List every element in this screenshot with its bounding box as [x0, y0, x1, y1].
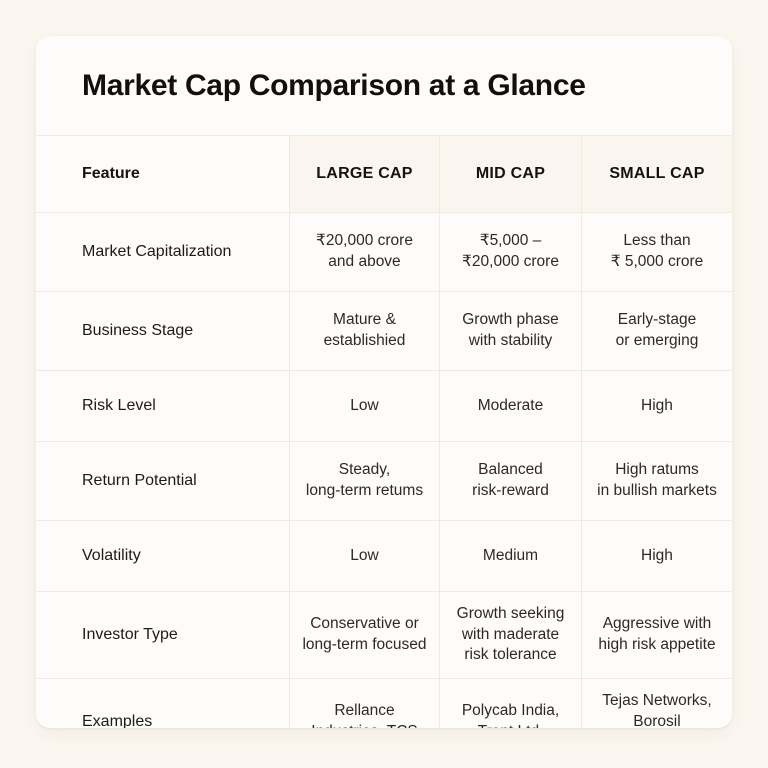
- cell-text-feature: Volatility: [82, 545, 141, 566]
- row-large-cap-cell: Low: [290, 521, 440, 591]
- cell-text-small: High ratums in bullish markets: [597, 460, 717, 501]
- table-header-row: Feature LARGE CAP MID CAP SMALL CAP: [36, 136, 732, 213]
- row-small-cap-cell: Less than ₹ 5,000 crore: [582, 213, 732, 291]
- row-large-cap-cell: Low: [290, 371, 440, 441]
- row-large-cap-cell: Steady, long-term retums: [290, 442, 440, 520]
- cell-text-mid: Polycab India, Trent Ltd.: [462, 701, 559, 728]
- cell-text-large: Low: [350, 396, 378, 417]
- row-mid-cap-cell: Balanced risk-reward: [440, 442, 582, 520]
- cell-text-feature: Risk Level: [82, 395, 156, 416]
- column-header-small-cap: SMALL CAP: [582, 136, 732, 212]
- cell-text-small: Early-stage or emerging: [616, 310, 699, 351]
- table-row: Risk Level Low Moderate High: [36, 371, 732, 442]
- row-large-cap-cell: Mature & establishied: [290, 292, 440, 370]
- cell-text-mid: ₹5,000 – ₹20,000 crore: [462, 231, 559, 272]
- cell-text-large: Conservative or long-term focused: [302, 614, 426, 655]
- cell-text-large: Steady, long-term retums: [306, 460, 423, 501]
- cell-text-large: ₹20,000 crore and above: [316, 231, 413, 272]
- table-row: Return Potential Steady, long-term retum…: [36, 442, 732, 521]
- cell-text-feature: Investor Type: [82, 624, 178, 645]
- row-mid-cap-cell: Polycab India, Trent Ltd.: [440, 679, 582, 728]
- row-feature-cell: Market Capitalization: [36, 213, 290, 291]
- row-feature-cell: Return Potential: [36, 442, 290, 520]
- row-feature-cell: Examples: [36, 679, 290, 728]
- cell-text-small: Tejas Networks, Borosil Renewables: [592, 691, 722, 728]
- row-feature-cell: Volatility: [36, 521, 290, 591]
- row-small-cap-cell: High ratums in bullish markets: [582, 442, 732, 520]
- cell-text-small: Less than ₹ 5,000 crore: [611, 231, 704, 272]
- column-header-mid-cap-label: MID CAP: [476, 163, 545, 184]
- table-row: Examples Rellance Industries, TCS Polyca…: [36, 679, 732, 728]
- column-header-feature-label: Feature: [82, 163, 140, 184]
- card-title-bar: Market Cap Comparison at a Glance: [36, 36, 732, 136]
- row-large-cap-cell: Conservative or long-term focused: [290, 592, 440, 678]
- row-small-cap-cell: Aggressive with high risk appetite: [582, 592, 732, 678]
- cell-text-small: High: [641, 396, 673, 417]
- row-mid-cap-cell: Moderate: [440, 371, 582, 441]
- row-large-cap-cell: Rellance Industries, TCS: [290, 679, 440, 728]
- row-mid-cap-cell: ₹5,000 – ₹20,000 crore: [440, 213, 582, 291]
- cell-text-mid: Growth seeking with maderate risk tolera…: [457, 604, 565, 666]
- cell-text-feature: Market Capitalization: [82, 241, 231, 262]
- table-row: Volatility Low Medium High: [36, 521, 732, 592]
- column-header-mid-cap: MID CAP: [440, 136, 582, 212]
- table-row: Business Stage Mature & establishied Gro…: [36, 292, 732, 371]
- cell-text-mid: Medium: [483, 546, 538, 567]
- column-header-small-cap-label: SMALL CAP: [609, 163, 704, 184]
- table-row: Investor Type Conservative or long-term …: [36, 592, 732, 679]
- row-large-cap-cell: ₹20,000 crore and above: [290, 213, 440, 291]
- table-row: Market Capitalization ₹20,000 crore and …: [36, 213, 732, 292]
- column-header-large-cap: LARGE CAP: [290, 136, 440, 212]
- page-title: Market Cap Comparison at a Glance: [82, 69, 586, 102]
- comparison-card: Market Cap Comparison at a Glance Featur…: [36, 36, 732, 728]
- column-header-feature: Feature: [36, 136, 290, 212]
- cell-text-large: Rellance Industries, TCS: [311, 701, 418, 728]
- row-small-cap-cell: High: [582, 521, 732, 591]
- cell-text-feature: Business Stage: [82, 320, 193, 341]
- row-mid-cap-cell: Growth phase with stability: [440, 292, 582, 370]
- row-small-cap-cell: Tejas Networks, Borosil Renewables: [582, 679, 732, 728]
- row-small-cap-cell: Early-stage or emerging: [582, 292, 732, 370]
- cell-text-large: Low: [350, 546, 378, 567]
- cell-text-mid: Growth phase with stability: [462, 310, 559, 351]
- cell-text-feature: Return Potential: [82, 470, 197, 491]
- cell-text-feature: Examples: [82, 711, 152, 728]
- cell-text-small: Aggressive with high risk appetite: [598, 614, 715, 655]
- row-feature-cell: Investor Type: [36, 592, 290, 678]
- row-mid-cap-cell: Growth seeking with maderate risk tolera…: [440, 592, 582, 678]
- cell-text-large: Mature & establishied: [324, 310, 406, 351]
- row-mid-cap-cell: Medium: [440, 521, 582, 591]
- cell-text-mid: Balanced risk-reward: [472, 460, 549, 501]
- row-feature-cell: Risk Level: [36, 371, 290, 441]
- comparison-table: Feature LARGE CAP MID CAP SMALL CAP Mark…: [36, 136, 732, 728]
- row-small-cap-cell: High: [582, 371, 732, 441]
- page-background: Market Cap Comparison at a Glance Featur…: [0, 0, 768, 768]
- row-feature-cell: Business Stage: [36, 292, 290, 370]
- cell-text-mid: Moderate: [478, 396, 543, 417]
- cell-text-small: High: [641, 546, 673, 567]
- column-header-large-cap-label: LARGE CAP: [316, 163, 412, 184]
